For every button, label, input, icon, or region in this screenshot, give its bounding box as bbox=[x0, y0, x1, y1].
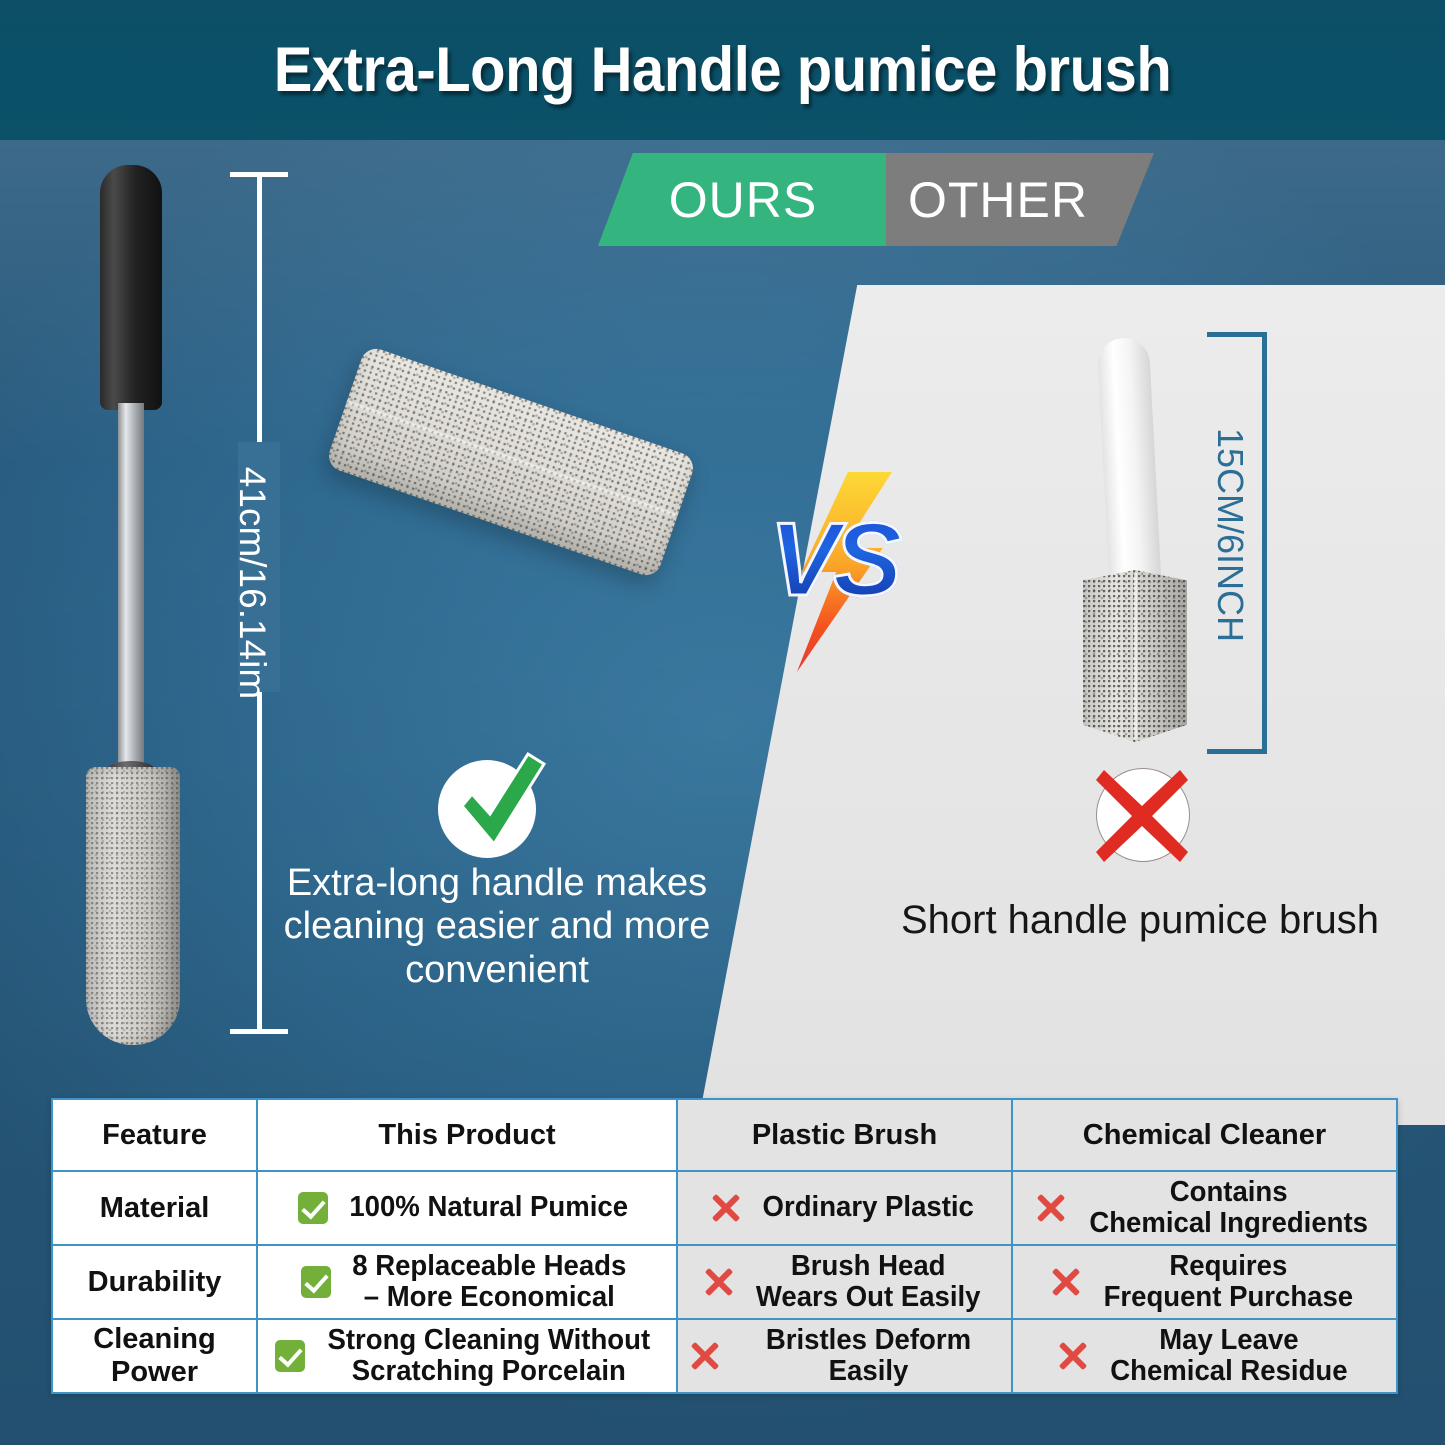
chemical-value: ContainsChemical Ingredients bbox=[1089, 1177, 1368, 1240]
short-brush-pumice-head bbox=[1083, 570, 1187, 742]
check-icon bbox=[275, 1340, 305, 1372]
cell-ours: Strong Cleaning WithoutScratching Porcel… bbox=[257, 1319, 677, 1393]
chemical-value: RequiresFrequent Purchase bbox=[1104, 1251, 1354, 1314]
comparison-table: Feature This Product Plastic Brush Chemi… bbox=[51, 1098, 1398, 1394]
table-row: Durability 8 Replaceable Heads– More Eco… bbox=[52, 1245, 1397, 1319]
th-this-product-label: This Product bbox=[378, 1119, 555, 1151]
th-feature-label: Feature bbox=[102, 1119, 207, 1151]
table-header-row: Feature This Product Plastic Brush Chemi… bbox=[52, 1099, 1397, 1171]
ours-caption: Extra-long handle makes cleaning easier … bbox=[262, 862, 732, 992]
banner-ours: OURS bbox=[598, 153, 888, 246]
short-brush-handle bbox=[1097, 337, 1162, 584]
cross-icon bbox=[1034, 1191, 1068, 1225]
cell-ours: 100% Natural Pumice bbox=[257, 1171, 677, 1245]
th-plastic-brush: Plastic Brush bbox=[677, 1099, 1012, 1171]
green-check-icon bbox=[430, 752, 550, 864]
feature-label: Material bbox=[100, 1192, 210, 1224]
cell-feature: Durability bbox=[52, 1245, 257, 1319]
versus-logo: VS bbox=[748, 472, 918, 672]
ours-value: 8 Replaceable Heads– More Economical bbox=[352, 1251, 626, 1314]
check-mark-glyph bbox=[436, 748, 552, 864]
dimension-cap-bottom bbox=[230, 1029, 288, 1034]
cell-plastic: Brush HeadWears Out Easily bbox=[677, 1245, 1012, 1319]
cross-icon bbox=[709, 1191, 743, 1225]
table-row: Material 100% Natural Pumice Ordinary Pl… bbox=[52, 1171, 1397, 1245]
dimension-cap-bottom bbox=[1207, 749, 1267, 754]
red-cross-icon bbox=[1086, 762, 1196, 866]
ours-value: 100% Natural Pumice bbox=[350, 1192, 629, 1223]
cross-icon bbox=[1056, 1339, 1090, 1373]
cell-chemical: RequiresFrequent Purchase bbox=[1012, 1245, 1397, 1319]
cross-icon bbox=[702, 1265, 736, 1299]
cross-mark-glyph bbox=[1086, 760, 1198, 872]
ours-dimension-label: 41cm/16.14im bbox=[231, 383, 273, 783]
other-dimension-label: 15CM/6INCH bbox=[1209, 360, 1251, 710]
brush-grip bbox=[100, 165, 162, 410]
th-feature: Feature bbox=[52, 1099, 257, 1171]
chemical-value: May LeaveChemical Residue bbox=[1110, 1325, 1347, 1388]
feature-label: Durability bbox=[88, 1266, 222, 1298]
dimension-rule bbox=[1262, 332, 1267, 754]
product-infographic: Extra-Long Handle pumice brush OURS OTHE… bbox=[0, 0, 1445, 1445]
cell-plastic: Ordinary Plastic bbox=[677, 1171, 1012, 1245]
brush-pumice-head bbox=[86, 767, 180, 1045]
other-dimension-line: 15CM/6INCH bbox=[1207, 332, 1269, 754]
table-row: Cleaning Power Strong Cleaning WithoutSc… bbox=[52, 1319, 1397, 1393]
table-body: Material 100% Natural Pumice Ordinary Pl… bbox=[52, 1171, 1397, 1393]
cell-ours: 8 Replaceable Heads– More Economical bbox=[257, 1245, 677, 1319]
cross-icon bbox=[688, 1339, 722, 1373]
cell-feature: Material bbox=[52, 1171, 257, 1245]
banner-ours-label: OURS bbox=[669, 171, 817, 229]
versus-label: VS bbox=[748, 508, 918, 612]
other-caption: Short handle pumice brush bbox=[840, 898, 1440, 943]
cell-plastic: Bristles Deform Easily bbox=[677, 1319, 1012, 1393]
brush-rod bbox=[118, 403, 144, 773]
th-plastic-brush-label: Plastic Brush bbox=[752, 1119, 937, 1151]
th-this-product: This Product bbox=[257, 1099, 677, 1171]
plastic-value: Brush HeadWears Out Easily bbox=[756, 1251, 981, 1314]
th-chemical-cleaner-label: Chemical Cleaner bbox=[1083, 1119, 1326, 1151]
other-side-panel bbox=[690, 285, 1445, 1125]
dimension-cap-top bbox=[230, 172, 288, 177]
plastic-value: Bristles Deform Easily bbox=[743, 1325, 995, 1388]
dimension-cap-top bbox=[1207, 332, 1267, 337]
banner-other: OTHER bbox=[886, 153, 1154, 246]
cell-chemical: May LeaveChemical Residue bbox=[1012, 1319, 1397, 1393]
short-handle-pumice-brush-image bbox=[1075, 338, 1195, 738]
cell-chemical: ContainsChemical Ingredients bbox=[1012, 1171, 1397, 1245]
banner-other-label: OTHER bbox=[908, 171, 1088, 229]
th-chemical-cleaner: Chemical Cleaner bbox=[1012, 1099, 1397, 1171]
ours-value: Strong Cleaning WithoutScratching Porcel… bbox=[328, 1325, 651, 1388]
page-title: Extra-Long Handle pumice brush bbox=[58, 34, 1387, 106]
cross-icon bbox=[1049, 1265, 1083, 1299]
check-icon bbox=[298, 1192, 328, 1224]
long-handle-pumice-brush-image bbox=[85, 165, 195, 1045]
feature-label: Cleaning Power bbox=[93, 1323, 215, 1388]
check-icon bbox=[301, 1266, 331, 1298]
cell-feature: Cleaning Power bbox=[52, 1319, 257, 1393]
comparison-banner: OURS OTHER bbox=[598, 153, 1158, 246]
plastic-value: Ordinary Plastic bbox=[763, 1192, 974, 1223]
